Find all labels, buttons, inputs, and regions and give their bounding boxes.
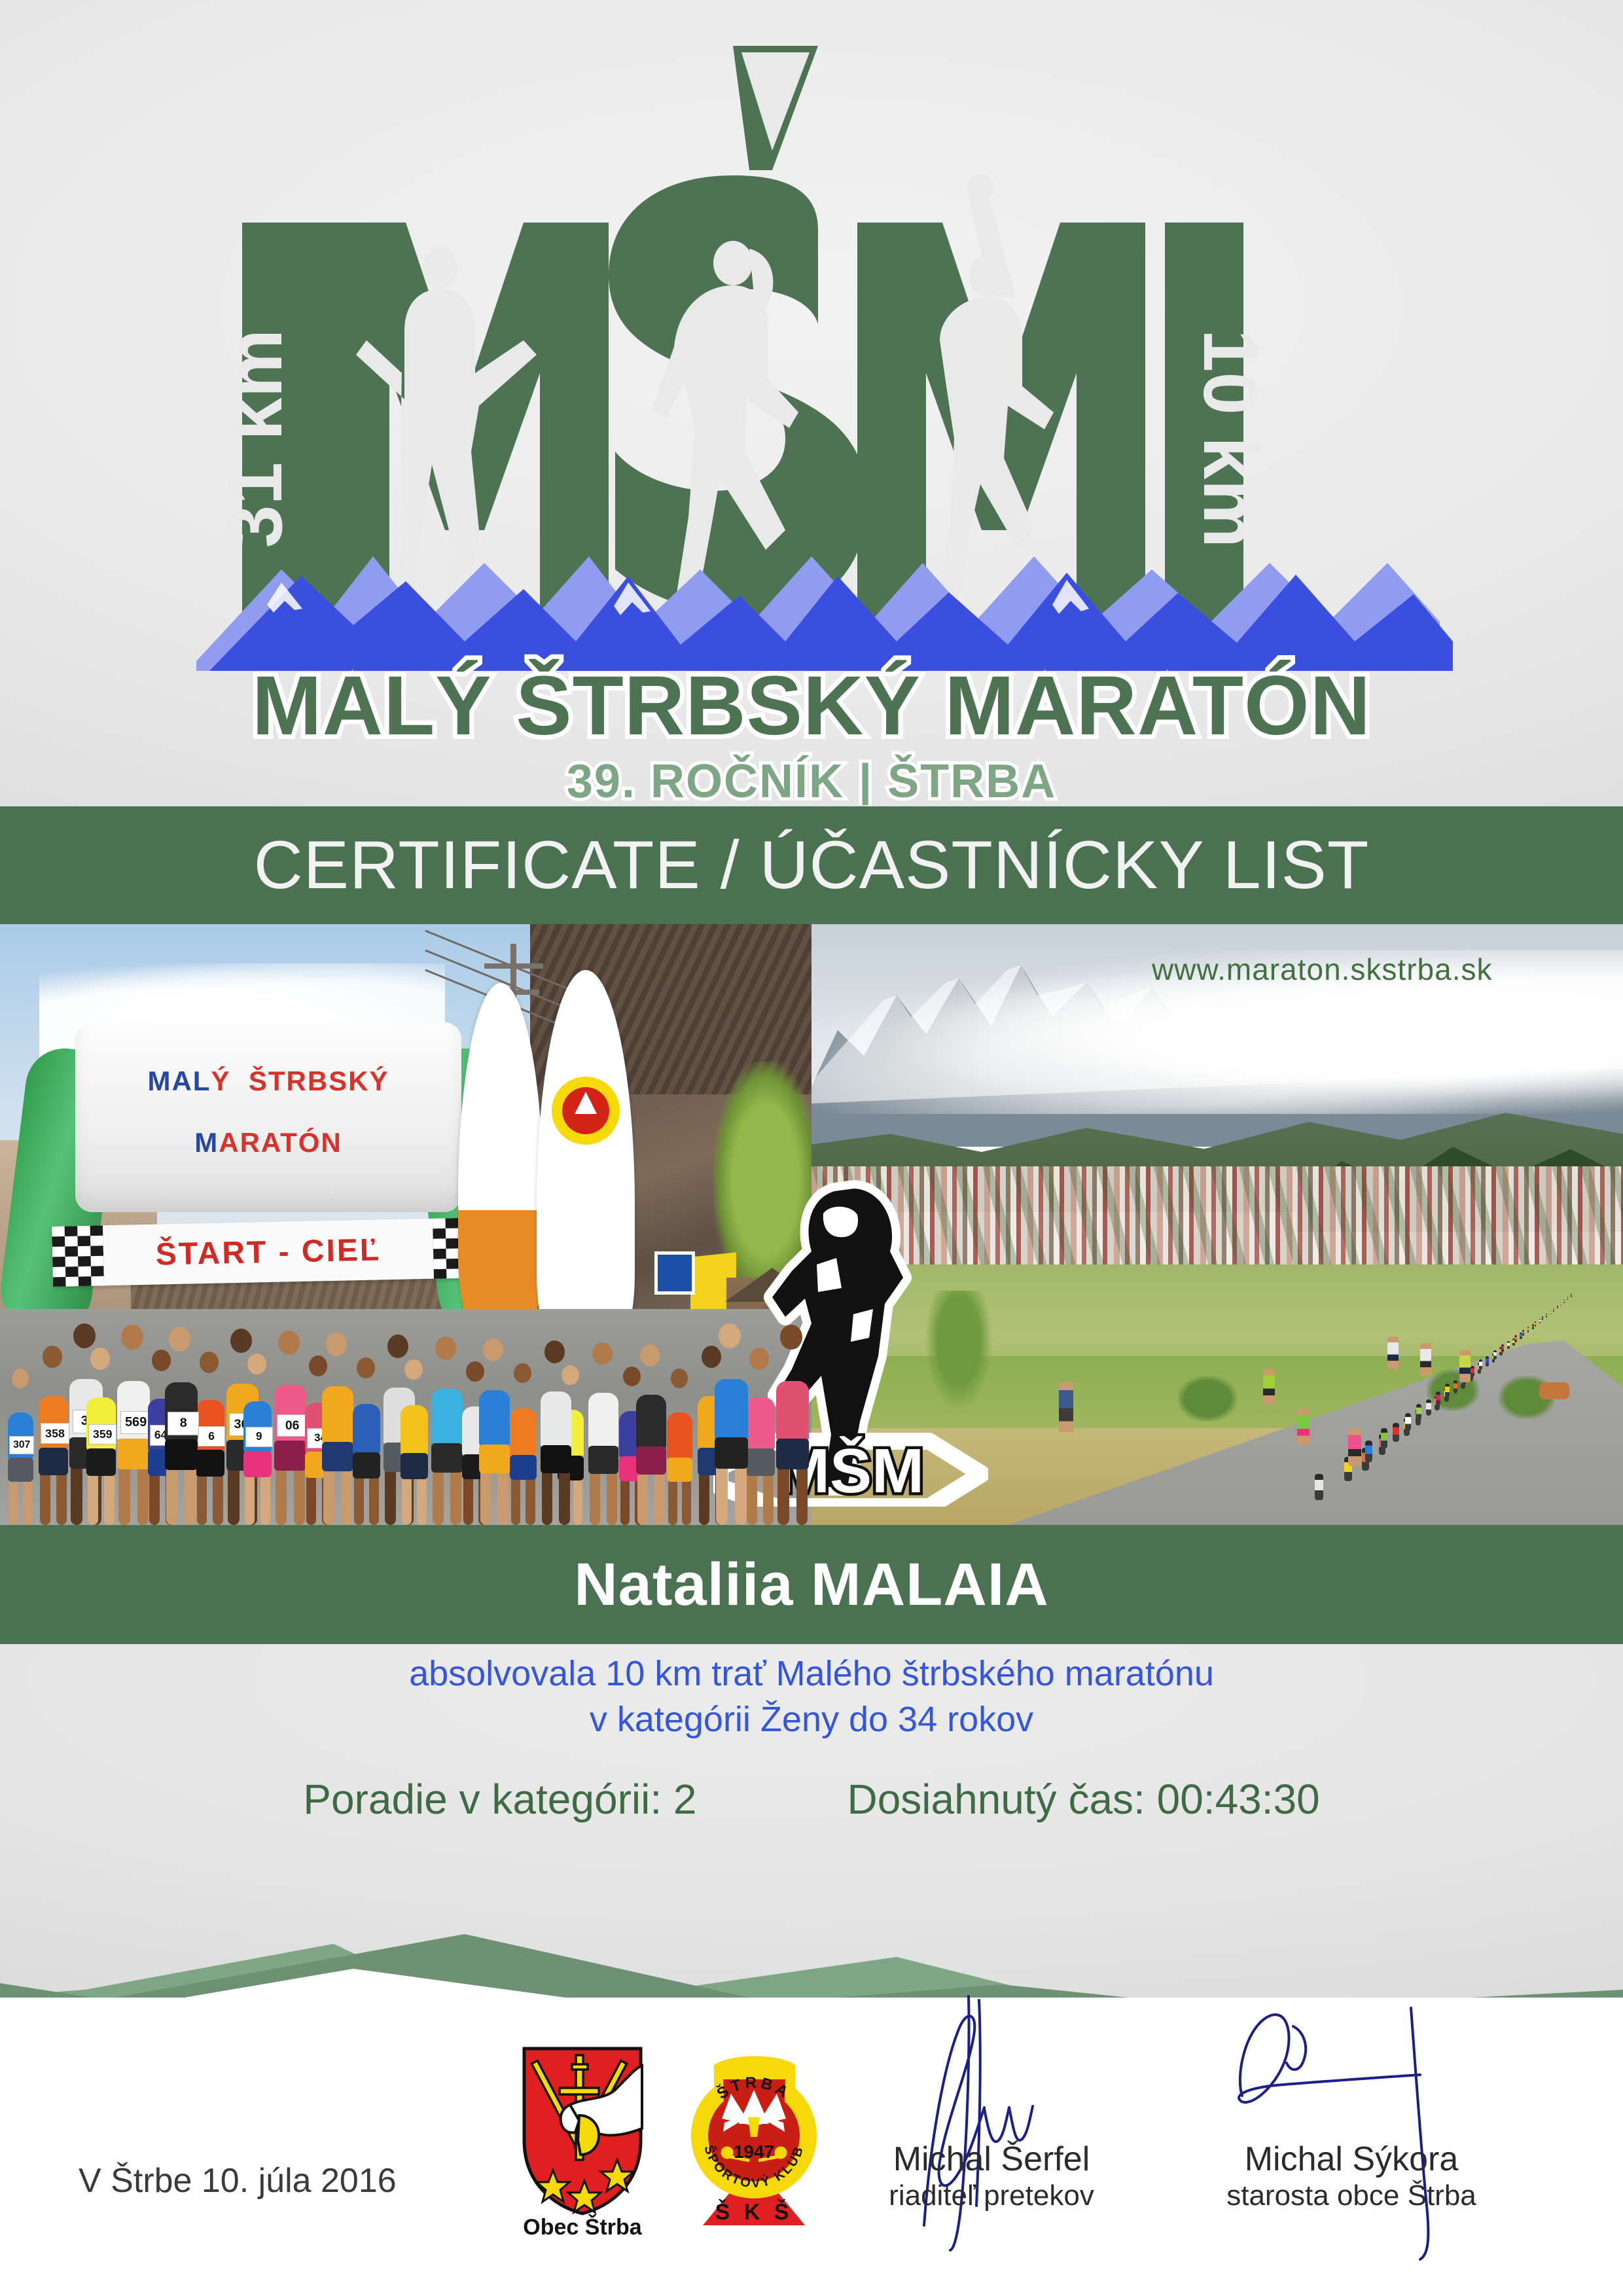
distant-runner bbox=[1535, 1321, 1537, 1327]
start-line-crowd-photo: MALÝ ŠTRBSKÝ MARATÓN ŠTART - CIEĽ bbox=[0, 924, 811, 1525]
runner-torso bbox=[353, 1404, 380, 1456]
distant-runner bbox=[1445, 1384, 1450, 1397]
distant-runner bbox=[1365, 1441, 1372, 1462]
certificate-title-band: CERTIFICATE / ÚČASTNÍCKY LIST bbox=[0, 806, 1623, 924]
tatra-mountain-range-icon bbox=[196, 556, 1453, 671]
distant-runner bbox=[1393, 1423, 1399, 1442]
distant-runner bbox=[1501, 1344, 1504, 1353]
runner-head bbox=[514, 1363, 531, 1384]
runner-head bbox=[43, 1346, 62, 1368]
distant-runner bbox=[1315, 1474, 1323, 1500]
sks-abbrev: Š K Š bbox=[715, 2199, 793, 2225]
participant-details: absolvovala 10 km trať Malého štrbského … bbox=[0, 1644, 1623, 1998]
distant-runner bbox=[1563, 1300, 1565, 1303]
foreground-runner bbox=[1263, 1369, 1275, 1405]
runner-figure bbox=[349, 1352, 388, 1525]
distant-runner bbox=[1522, 1330, 1524, 1336]
description-block: absolvovala 10 km trať Malého štrbského … bbox=[0, 1651, 1623, 1742]
foreground-runner bbox=[1459, 1350, 1471, 1382]
runner-legs bbox=[401, 1453, 428, 1525]
runner-head bbox=[404, 1359, 423, 1380]
description-line-2: v kategórii Ženy do 34 rokov bbox=[0, 1696, 1623, 1742]
obec-strba-coat-of-arms: Obec Štrba bbox=[507, 2042, 658, 2238]
signature-block-1: Michal Šerfel riaditeľ pretekov bbox=[851, 2140, 1132, 2212]
runner-head bbox=[278, 1331, 300, 1355]
runner-bib: 307 bbox=[9, 1436, 34, 1454]
runner-legs bbox=[353, 1452, 380, 1525]
runner-legs bbox=[243, 1451, 272, 1525]
runner-legs bbox=[510, 1455, 537, 1525]
runner-head bbox=[640, 1344, 660, 1367]
certificate-page: 31 km bbox=[0, 0, 1623, 2296]
distant-runner bbox=[1542, 1316, 1543, 1321]
distant-runner bbox=[1381, 1428, 1387, 1448]
runner-head bbox=[592, 1342, 613, 1365]
rank-in-category: Poradie v kategórii: 2 bbox=[303, 1775, 696, 1823]
runner-figure bbox=[537, 1335, 576, 1525]
distant-runner bbox=[1416, 1404, 1421, 1420]
runner-legs bbox=[86, 1448, 116, 1525]
signature-1-role: riaditeľ pretekov bbox=[851, 2179, 1132, 2212]
signature-1-name: Michal Šerfel bbox=[851, 2140, 1132, 2179]
runner-head bbox=[435, 1336, 456, 1360]
sks-year: 1947 bbox=[734, 2142, 774, 2162]
website-url: www.maraton.skstrba.sk bbox=[1152, 952, 1492, 987]
distant-runner bbox=[1567, 1297, 1569, 1300]
distant-runner bbox=[1550, 1311, 1552, 1315]
distant-runner bbox=[1486, 1356, 1489, 1366]
runner-arm-raised-silhouette bbox=[936, 174, 1054, 622]
runner-crowd: 307358323595696488636090634 bbox=[0, 1198, 811, 1525]
runner-head bbox=[357, 1357, 375, 1378]
distant-runner bbox=[1571, 1294, 1572, 1297]
distance-left-label: 31 km bbox=[212, 329, 298, 548]
runner-head bbox=[544, 1340, 565, 1363]
runner-legs bbox=[588, 1446, 618, 1525]
msm-logo-svg: 31 km bbox=[157, 33, 1466, 805]
runner-bib: 6 bbox=[198, 1426, 225, 1446]
signature-block-2: Michal Sýkora starosta obce Štrba bbox=[1198, 2140, 1505, 2212]
distance-right-label: 10 km bbox=[1187, 329, 1274, 548]
runner-head bbox=[326, 1333, 347, 1356]
runner-head bbox=[671, 1369, 688, 1388]
runner-torso bbox=[510, 1408, 537, 1459]
runner-legs bbox=[667, 1458, 692, 1525]
runner-head bbox=[247, 1354, 266, 1374]
participant-name-band: Nataliia MALAIA bbox=[0, 1525, 1623, 1644]
runner-head bbox=[169, 1327, 190, 1351]
runner-torso bbox=[667, 1412, 692, 1461]
distant-runner bbox=[1553, 1308, 1554, 1312]
runner-legs bbox=[715, 1437, 748, 1525]
distant-runner bbox=[1405, 1413, 1411, 1431]
distant-runner bbox=[1557, 1306, 1558, 1309]
distant-runner bbox=[1479, 1359, 1482, 1370]
participant-name: Nataliia MALAIA bbox=[574, 1554, 1049, 1615]
runner-figure: 8 bbox=[161, 1321, 200, 1525]
distant-runner bbox=[1436, 1391, 1440, 1407]
distant-runner bbox=[1539, 1319, 1541, 1323]
distant-runner bbox=[1454, 1380, 1458, 1393]
signature-2-name: Michal Sýkora bbox=[1198, 2140, 1505, 2179]
runner-head bbox=[780, 1325, 802, 1350]
runner-head bbox=[719, 1323, 741, 1348]
header-logo-area: 31 km bbox=[0, 0, 1623, 806]
runner-legs bbox=[39, 1448, 68, 1525]
event-title: MALÝ ŠTRBSKÝ MARATÓN bbox=[252, 659, 1371, 753]
arch-text-line2: MARATÓN bbox=[75, 1127, 461, 1158]
event-subtitle: 39. ROČNÍK | ŠTRBA bbox=[567, 755, 1056, 805]
runner-head bbox=[90, 1348, 110, 1369]
runner-figure bbox=[711, 1317, 750, 1525]
arch-banner-panel: MALÝ ŠTRBSKÝ MARATÓN bbox=[75, 1022, 461, 1212]
sks-strba-club-emblem: 1947 ŠTRBA ŠPORTOVÝ KLUB Š K Š bbox=[684, 2039, 825, 2235]
runner-bib: 9 bbox=[245, 1427, 273, 1447]
distant-runner bbox=[1471, 1366, 1474, 1377]
runner-torso bbox=[715, 1379, 748, 1441]
runner-head bbox=[121, 1325, 143, 1350]
arch-text-line1: MALÝ ŠTRBSKÝ bbox=[75, 1066, 461, 1097]
runner-torso bbox=[401, 1405, 428, 1456]
distant-runner bbox=[1507, 1341, 1510, 1349]
spectator bbox=[1059, 1382, 1073, 1432]
runner-torso bbox=[588, 1393, 618, 1449]
finish-time: Dosiahnutý čas: 00:43:30 bbox=[847, 1775, 1319, 1823]
distant-runner bbox=[1426, 1399, 1431, 1415]
runner-torso bbox=[479, 1390, 510, 1448]
distant-runner bbox=[1493, 1350, 1497, 1359]
runner-head bbox=[483, 1338, 503, 1361]
distant-runner bbox=[1527, 1327, 1529, 1333]
runner-head bbox=[200, 1352, 219, 1373]
foreground-runner bbox=[1420, 1343, 1431, 1376]
runner-legs bbox=[165, 1439, 198, 1525]
runner-legs bbox=[636, 1446, 666, 1525]
runner-torso bbox=[636, 1395, 666, 1451]
signature-sykora-ink bbox=[1230, 2003, 1479, 2265]
runner-legs bbox=[541, 1445, 571, 1525]
runner-legs bbox=[479, 1444, 510, 1525]
photo-strip: MALÝ ŠTRBSKÝ MARATÓN ŠTART - CIEĽ bbox=[0, 924, 1623, 1525]
results-row: Poradie v kategórii: 2 Dosiahnutý čas: 0… bbox=[0, 1775, 1623, 1823]
issue-date: V Štrbe 10. júla 2016 bbox=[79, 2161, 397, 2200]
runner-legs bbox=[776, 1439, 809, 1525]
runner-figure bbox=[772, 1319, 811, 1525]
runner-head bbox=[12, 1369, 29, 1388]
distant-runner bbox=[1546, 1314, 1547, 1318]
certificate-title: CERTIFICATE / ÚČASTNÍCKY LIST bbox=[254, 831, 1370, 899]
msm-logo: 31 km bbox=[0, 0, 1623, 806]
distant-runner bbox=[1532, 1324, 1534, 1329]
runner-head bbox=[749, 1348, 769, 1369]
runner-torso bbox=[776, 1381, 809, 1443]
runner-torso bbox=[541, 1391, 571, 1448]
description-line-1: absolvovala 10 km trať Malého štrbského … bbox=[0, 1651, 1623, 1696]
distant-runner bbox=[1514, 1335, 1516, 1342]
runner-bib: 359 bbox=[88, 1424, 116, 1445]
signature-2-role: starosta obce Štrba bbox=[1198, 2179, 1505, 2212]
obec-crest-caption: Obec Štrba bbox=[523, 2214, 642, 2238]
foreground-runner bbox=[1348, 1428, 1361, 1466]
foreground-runner bbox=[1297, 1408, 1310, 1445]
cow bbox=[1539, 1382, 1569, 1399]
runner-bib: 8 bbox=[168, 1412, 199, 1435]
foreground-runner bbox=[1387, 1336, 1399, 1369]
runner-legs bbox=[8, 1458, 33, 1525]
distant-runner bbox=[1560, 1302, 1561, 1306]
sks-mini-emblem-icon bbox=[543, 1068, 628, 1153]
